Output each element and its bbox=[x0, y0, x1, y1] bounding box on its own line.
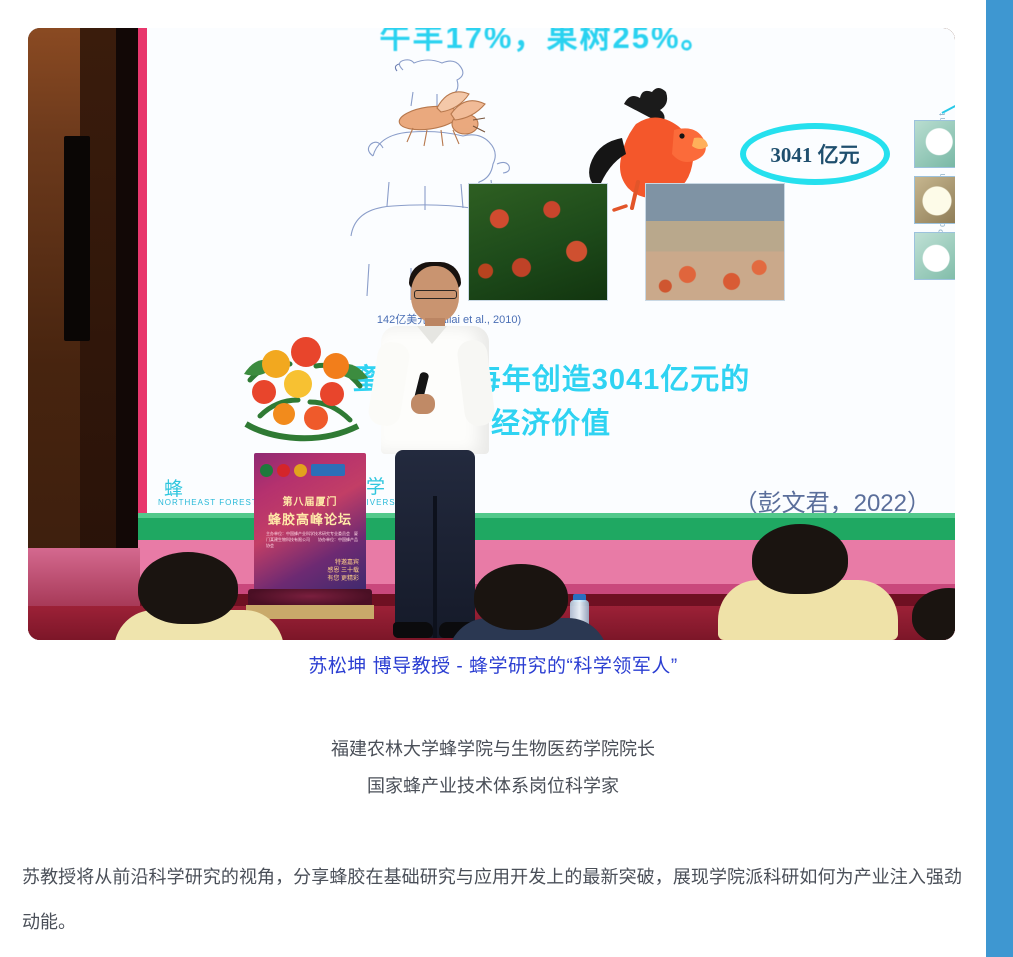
highlight-value: 3041 亿元 bbox=[770, 139, 859, 169]
fruit-photo-ground bbox=[645, 183, 785, 301]
audience-member bbox=[912, 588, 955, 640]
article-page: 牛羊17%，果树25%。 bbox=[0, 0, 1013, 957]
hero-photo: 牛羊17%，果树25%。 bbox=[28, 28, 955, 640]
banner-footer-line1: 感恩 三十载 bbox=[327, 567, 359, 575]
scrollbar-thumb[interactable] bbox=[986, 0, 1013, 957]
body-paragraph: 苏教授将从前沿科学研究的视角，分享蜂胶在基础研究与应用开发上的最新突破，展现学院… bbox=[22, 855, 962, 945]
scrollbar-rail[interactable] bbox=[986, 0, 1013, 957]
banner-logo-4-icon bbox=[311, 464, 345, 476]
audience-head bbox=[138, 552, 238, 624]
pollination-treatment-group: Pollination treatment bbox=[898, 116, 955, 306]
pollination-thumb-3 bbox=[914, 232, 955, 280]
banner-title-line2: 蜂胶高峰论坛 bbox=[254, 509, 366, 528]
pollination-thumb-1 bbox=[914, 120, 955, 168]
pointer-line-icon bbox=[942, 84, 955, 114]
credential-line: 福建农林大学蜂学院与生物医药学院院长 bbox=[0, 731, 986, 768]
audience-member bbox=[718, 524, 898, 640]
audience-head bbox=[752, 524, 848, 594]
slide-top-cutoff-text: 牛羊17%，果树25%。 bbox=[138, 28, 955, 57]
banner-organizers: 主办单位：中国蜂产业科学技术研究专业委员会 厦门某建生物科技有限公司 协办单位：… bbox=[266, 531, 358, 549]
audience-member bbox=[114, 552, 284, 640]
banner-logo-row bbox=[260, 463, 360, 477]
wall-speaker-box bbox=[64, 136, 90, 341]
article-body: 牛羊17%，果树25%。 bbox=[0, 0, 986, 957]
audience-member bbox=[448, 564, 608, 640]
university-mark-left-icon: 蜂 bbox=[164, 474, 183, 501]
banner-logo-1-icon bbox=[260, 464, 273, 477]
banner-logo-2-icon bbox=[277, 464, 290, 477]
banner-footer-line2: 有您 更精彩 bbox=[327, 575, 359, 583]
audience-head bbox=[474, 564, 568, 630]
speaker-hand bbox=[411, 394, 435, 414]
slide-left-strip bbox=[138, 28, 147, 540]
photo-caption: 苏松坤 博导教授 - 蜂学研究的“科学领军人” bbox=[0, 651, 986, 678]
highlight-ellipse: 3041 亿元 bbox=[740, 123, 890, 185]
banner-footer-label: 特邀嘉宾 bbox=[327, 559, 359, 567]
flower-arrangement bbox=[240, 328, 372, 458]
credential-line: 国家蜂产业技术体系岗位科学家 bbox=[0, 768, 986, 805]
speaker-shoe-left bbox=[393, 622, 433, 638]
credentials-block: 福建农林大学蜂学院与生物医药学院院长 国家蜂产业技术体系岗位科学家 bbox=[0, 731, 986, 805]
banner-title-line1: 第八届厦门 bbox=[254, 493, 366, 508]
speaker-leg-split bbox=[433, 496, 437, 638]
banner-footer: 特邀嘉宾 感恩 三十载 有您 更精彩 bbox=[327, 559, 359, 583]
speaker-glasses-icon bbox=[414, 290, 457, 299]
banner-logo-3-icon bbox=[294, 464, 307, 477]
pollination-thumb-2 bbox=[914, 176, 955, 224]
audience-head bbox=[912, 588, 955, 640]
